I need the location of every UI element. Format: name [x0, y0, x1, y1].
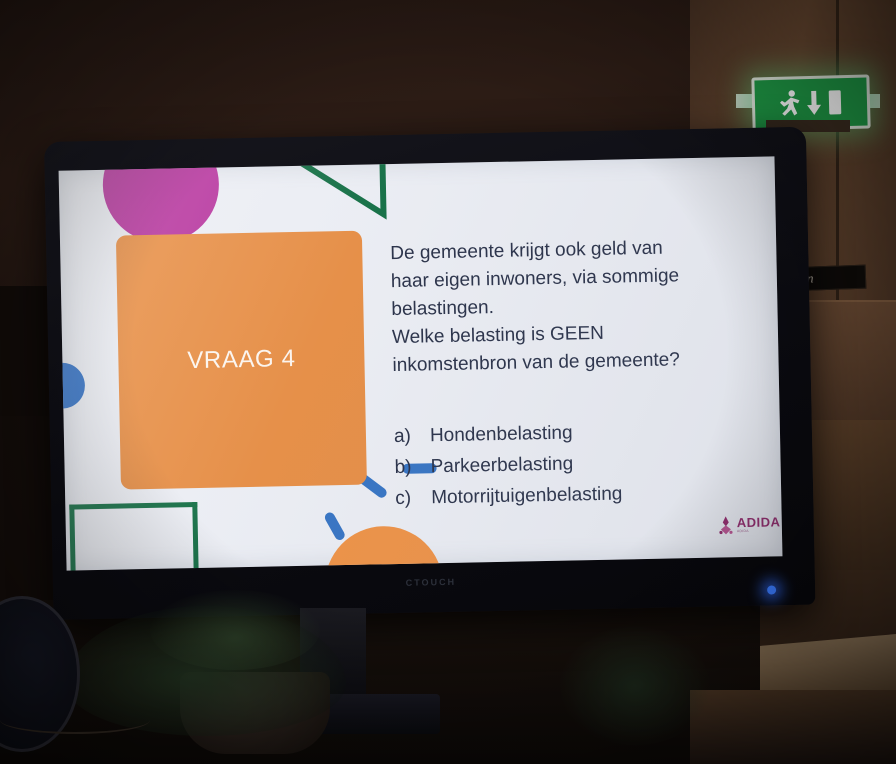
question-line: inkomstenbron van de gemeente?	[392, 345, 748, 380]
power-led-indicator	[767, 585, 776, 594]
question-number-label: VRAAG 4	[187, 345, 296, 375]
answer-option-c: c) Motorrijtuigenbelasting	[395, 476, 756, 514]
adida-logo-text: ADIDA ADIDA	[737, 516, 781, 534]
adida-mark-icon	[718, 515, 734, 535]
blue-dash-decoration-3	[323, 511, 346, 542]
option-text-c: Motorrijtuigenbelasting	[431, 479, 623, 514]
display-screen: VRAAG 4 De gemeente krijgt ook geld van …	[59, 156, 783, 570]
display-brand-label: CTOUCH	[371, 576, 491, 588]
magenta-circle-decoration	[102, 156, 220, 243]
option-text-b: Parkeerbelasting	[430, 449, 573, 483]
foreground-plant-top	[150, 590, 320, 670]
presentation-display: VRAAG 4 De gemeente krijgt ook geld van …	[44, 127, 815, 620]
door-icon	[827, 88, 844, 116]
down-arrow-icon	[806, 89, 823, 117]
blue-circle-decoration	[59, 362, 86, 409]
option-text-a: Hondenbelasting	[430, 418, 573, 452]
background-plant	[560, 626, 710, 746]
question-number-badge: VRAAG 4	[116, 231, 367, 490]
wall-seam	[836, 0, 839, 300]
option-label-c: c)	[395, 483, 418, 514]
photo-scene: iletten VRAAG 4 De gemeente krijgt ook g…	[0, 0, 896, 764]
adida-logo-name: ADIDA	[737, 516, 781, 530]
bench-body	[690, 690, 896, 764]
cable	[0, 706, 150, 734]
answer-options: a) Hondenbelasting b) Parkeerbelasting c…	[394, 415, 756, 515]
question-text: De gemeente krijgt ook geld van haar eig…	[390, 233, 749, 381]
option-label-b: b)	[394, 452, 417, 483]
green-rectangle-decoration	[69, 502, 199, 571]
green-chevron-decoration	[294, 158, 415, 226]
slide-logo: ADIDA ADIDA	[718, 514, 781, 535]
adida-logo-tagline: ADIDA	[737, 530, 781, 534]
running-man-icon	[779, 89, 802, 118]
option-label-a: a)	[394, 422, 417, 453]
